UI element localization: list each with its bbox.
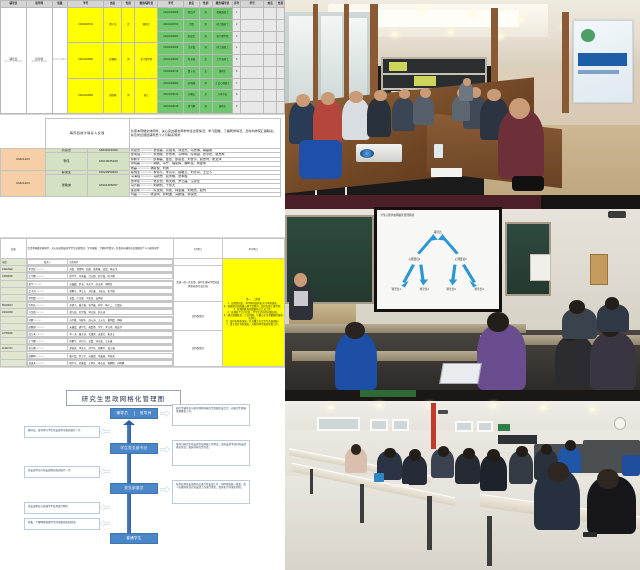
student-head xyxy=(569,300,585,314)
phone-cell xyxy=(1,323,27,330)
grey-sid xyxy=(241,78,264,90)
phone xyxy=(583,532,597,537)
col-sid-b: 学号 xyxy=(158,1,184,8)
green-name: 黄飞鹏 xyxy=(184,102,199,114)
member-sid: 03221403948 xyxy=(141,163,153,165)
red-pillar xyxy=(431,403,437,450)
phone-cell xyxy=(1,352,27,359)
member-list: 吴逸昊、高旭涛、郭文杰、马志博、胡磊刚 xyxy=(153,149,212,153)
member-split: 刘鹏 03221403 苏宇峰、冯建东、赵元涛、王元东、董明磊、郭楠 xyxy=(26,316,174,323)
member-name: 吴南强 xyxy=(131,153,140,157)
grey-name xyxy=(264,31,277,43)
feedback-col-header: 反馈 xyxy=(1,239,27,259)
contact-name: 李明磊 xyxy=(29,297,36,300)
sub-contact: 联系人 xyxy=(27,260,68,265)
col-name-a: 姓名 xyxy=(104,1,122,8)
green-origin: 大专业硕士 xyxy=(212,55,233,67)
grey-name xyxy=(264,19,277,31)
idx-cell: 6 xyxy=(233,66,241,78)
class-code-cell: 03221403 xyxy=(1,149,46,171)
contact-sid: 03221404 xyxy=(36,334,44,336)
green-origin: 大本专业 xyxy=(212,90,233,102)
idx-cell: 8 xyxy=(233,90,241,102)
slide-arrows xyxy=(377,210,499,309)
member-list: 邵华平、冯沐鑫、吕志那、赵宇嘉、陈子鹏 xyxy=(68,274,173,279)
green-name: 王冰磊 xyxy=(184,43,199,55)
grey-sid xyxy=(241,66,264,78)
member-split: 高万天 03221404 李一涛、董志涛、吴镇然、宋嘉言、朱金立 xyxy=(26,330,174,337)
green-sex: 男 xyxy=(199,78,212,90)
downlight-icon xyxy=(392,33,397,36)
member-list: 李伟凡、李高宇、赵敏兰、刘芳舟、王立人 xyxy=(153,170,212,174)
student-head xyxy=(351,444,362,455)
col-origin-b: 籍贯/辅导员 xyxy=(212,1,233,8)
downlight-icon xyxy=(470,12,475,15)
member-sid: 03221403712 xyxy=(141,159,153,161)
phone-cell: 11420713 xyxy=(1,345,27,352)
grey-sex xyxy=(277,90,285,102)
contact-name: 黄宇 xyxy=(29,283,34,286)
table-header-row: 辅导员 班导师 班级 学号 姓名 性别 籍贯/辅导员 学号 姓名 性别 籍贯/辅… xyxy=(1,1,285,8)
green-origin: 机械类硕士 xyxy=(212,8,233,20)
green-sex: 男 xyxy=(199,43,212,55)
grey-sid xyxy=(241,55,264,67)
member-list: 宋鑫磊、通宇杰、祝磊然、余亨、李立南、周云华 xyxy=(68,324,173,329)
attendee xyxy=(342,98,370,141)
projector-lens-icon xyxy=(360,149,374,158)
contact-sid: 03221403 xyxy=(36,269,44,271)
idx-cell: 1 xyxy=(233,8,241,20)
contact-name: 刘鹏 xyxy=(29,319,34,322)
student-head xyxy=(384,448,395,459)
green-sex: 男 xyxy=(199,19,212,31)
contact-name: 高嘉天 xyxy=(29,362,36,365)
contact-name: 何明志 xyxy=(29,304,36,307)
feedback-note: 负责本寝楼全体同学，关心身边朋友同学学生出现情况、学习困难、了解同学情况，及时向… xyxy=(129,119,280,149)
green-sid: 03221403664 xyxy=(158,31,184,43)
grey-name xyxy=(264,43,277,55)
student-head xyxy=(597,469,618,489)
member-split: 张万鹏 03221404 郑亚纯、李金方、刘宇哲、蒋鹏宇、温立强 xyxy=(26,345,174,352)
callout-left-3: 党支部委员与普通学生每月进行两次 xyxy=(24,502,100,514)
feedback-header-row: 每周四统计联系人反馈 负责本寝楼全体同学，关心身边朋友同学学生出现情况、学习困难… xyxy=(1,119,281,149)
col-sid-c: 学号 xyxy=(241,1,264,8)
green-sex: 男 xyxy=(199,102,212,114)
cabinet-shelf xyxy=(383,73,486,75)
roster-spreadsheet-panel: 辅导员 班导师 班级 学号 姓名 性别 籍贯/辅导员 学号 姓名 性别 籍贯/辅… xyxy=(0,0,285,115)
member-name: 冯齐超 xyxy=(131,184,140,188)
member-list: 孙鹏宇、齐世方、吴磊、济东波、王水鑫 xyxy=(68,339,173,344)
attendee xyxy=(392,98,415,131)
grey-name xyxy=(264,66,277,78)
department-sign xyxy=(573,20,633,104)
photo-inner xyxy=(285,390,640,570)
member-split: 赵鹏然 03221403 宋鑫磊、通宇杰、祝磊然、余亨、李立南、周云华 xyxy=(26,323,174,330)
member-list: 吴鑫麟、罗涛、余志宇、赵志超、胡明哲 xyxy=(68,281,173,286)
yellow-note-cell: 第一、二阶段 1、疫情情况后，本学期开始的形式与举措落实。 2、按班级分组收集心… xyxy=(222,259,285,367)
exit-sign-icon xyxy=(498,424,510,431)
roster-table: 辅导员 班导师 班级 学号 姓名 性别 籍贯/辅导员 学号 姓名 性别 籍贯/辅… xyxy=(0,0,285,114)
date1-cell: 无特殊情况 xyxy=(174,330,222,366)
callout-right-2: 每周与研究生党支部书记开展工作例会，由党支部书记向党支部委员传达，逐层向研究生传… xyxy=(172,440,250,466)
member-list: 刘磊、郑泽鸣、赵晨、黄思豪、高磊、陈启飞 xyxy=(68,267,173,272)
callout-right-1: 研究生辅导员与班导师共同研究生思政形成合力，对研究生开展思想教育工作。 xyxy=(172,404,250,426)
desk-leg xyxy=(427,496,432,550)
col-class: 班级 xyxy=(52,1,67,8)
member-list: 李一涛、董志涛、吴镇然、宋嘉言、朱金立 xyxy=(68,331,173,336)
grey-sex xyxy=(277,55,285,67)
contact-phone: 18901386057 xyxy=(87,175,129,197)
contact-name: 赵鹏坤 xyxy=(29,355,36,358)
member-list: 吴泰然、杨大峰、罗艺磊、汪意全 xyxy=(153,179,199,183)
member-list: 胡鹏、马宁、程思辉、魏鸣佳、黄金成 xyxy=(153,162,206,166)
yellow-sex: 女 xyxy=(122,8,135,43)
arrow-up-icon xyxy=(123,420,135,425)
member-list: 郑亚纯、李金方、刘宇哲、蒋鹏宇、温立强 xyxy=(68,346,173,351)
grey-sid xyxy=(241,102,264,114)
contact-sid: 03221404 xyxy=(36,356,44,358)
green-origin: 国防生 xyxy=(212,66,233,78)
member-row: 司磊 03221404758 张亚明、邱明迪、冯鹏程、余锐然 xyxy=(129,192,280,196)
member-list: 胡九松、刘宇霖、郭志辰、赵志涛 xyxy=(68,310,173,315)
member-split: 李世廷 03221403 刘磊、郑泽鸣、赵晨、黄思豪、高磊、陈启飞 xyxy=(26,266,174,273)
header-note: 负责本寝楼全体同学，关心身边朋友同学学生出现情况、学习困难、了解同学情况，并及时… xyxy=(26,239,174,259)
student xyxy=(477,324,527,390)
member-sid: 03221404794 xyxy=(141,181,153,183)
contact-name: 张万鹏 xyxy=(29,347,36,350)
contact-name: 李世廷 xyxy=(29,268,36,271)
window xyxy=(477,421,493,433)
grey-sex xyxy=(277,102,285,114)
member-name: 邱鹏宇 xyxy=(131,157,140,161)
counselor-cell: 辅导员 (办公室 行政楼四层) xyxy=(1,8,27,114)
col-sex-b: 性别 xyxy=(199,1,212,8)
callout-left-1: 辅导员、班导师与学生党支部书记每周进行一次 xyxy=(24,426,100,438)
presenter-head xyxy=(463,78,472,86)
water-bottle xyxy=(434,144,443,158)
green-sex: 女 xyxy=(199,90,212,102)
member-split: 李明磊 03221403 高磊、卢正锋、冯金哲、安夏松 xyxy=(26,294,174,301)
green-sid: 03221403669 xyxy=(158,43,184,55)
phone-cell xyxy=(1,316,27,323)
left-column: 辅导员 班导师 班级 学号 姓名 性别 籍贯/辅导员 学号 姓名 性别 籍贯/辅… xyxy=(0,0,285,570)
member-sid: 03221404813 xyxy=(141,190,153,192)
member-name: 周思奇 xyxy=(131,149,140,153)
sign-title-bar xyxy=(578,53,627,66)
window-pane xyxy=(349,18,367,102)
projector xyxy=(356,144,402,162)
yellow-origin: 非门理学院 xyxy=(135,43,158,78)
contact-name: 赵鹏然 xyxy=(29,326,36,329)
student-head xyxy=(605,297,619,310)
grey-sid xyxy=(241,90,264,102)
laptop xyxy=(439,363,482,384)
sign-subtitle-bar xyxy=(578,70,619,74)
grey-sex xyxy=(277,19,285,31)
cork-board xyxy=(590,254,608,285)
lecture-hall-photo xyxy=(285,390,640,570)
idx-cell: 9 xyxy=(233,102,241,114)
flow-node-party-committee: 党支部委员 xyxy=(110,483,158,494)
phone-cell xyxy=(1,294,27,301)
green-sex: 男 xyxy=(199,31,212,43)
connector-arrow-icon xyxy=(100,504,110,511)
member-sid: 03221403903 xyxy=(138,168,150,170)
meeting-room-photo xyxy=(285,0,640,195)
member-list: 董小磊、罗江宇、吴建磊、常鑫锋、李亚天 xyxy=(68,353,173,358)
yellow-name: 周晓楠 xyxy=(104,78,122,113)
connector-arrow-icon xyxy=(160,486,170,493)
member-split: 黄宇 03221403 吴鑫麟、罗涛、余志宇、赵志超、胡明哲 xyxy=(26,280,174,287)
flowchart-panel: 研究生思政网格化管理图 辅导员 班导师 学生党支部书记 党支部委员 普通学生 研… xyxy=(0,368,285,570)
classadvisor-sub: (机械学院 教研室) xyxy=(27,61,52,64)
student-head xyxy=(438,446,449,457)
green-sid: 03221403614 xyxy=(158,90,184,102)
member-list: 胡解东、李江志、刘志鑫、王秋允、张宇挺 xyxy=(68,288,173,293)
yellow-sid: 03221403724 xyxy=(68,8,104,43)
desk-leg xyxy=(310,469,314,494)
member-split: 何明志 03221403 全德大、董方锋、张华鑫、孙华、杨小二、王磊辰 xyxy=(26,302,174,309)
student-head xyxy=(487,312,508,332)
flow-node-party-secretary: 学生党支部书记 xyxy=(110,443,158,454)
feedback-title: 每周四统计联系人反馈 xyxy=(45,119,129,149)
table-row: 辅导员 (办公室 行政楼四层) 班导师 (机械学院 教研室) 滚动区 (隐藏列)… xyxy=(1,8,285,20)
green-origin: 硕士类硕士 xyxy=(212,43,233,55)
member-split: 赵鹏坤 03221404 董小磊、罗江宇、吴建磊、常鑫锋、李亚天 xyxy=(26,352,174,359)
phone-cell: 13800006 xyxy=(1,273,27,280)
green-name: 曹宁佳 xyxy=(184,66,199,78)
date-col-1: 3月9日 xyxy=(174,239,222,259)
lecture-slide-photo: 学生心理状态网格化管理机制 辅导员 心理委员1 心理委员2 寝室长1 寝室长2 … xyxy=(285,195,640,390)
member-list: 马航志、赵沐翔、张本超 xyxy=(153,175,187,179)
col-classadvisor: 班导师 xyxy=(26,1,52,8)
member-list: 高磊、卢正锋、冯金哲、安夏松 xyxy=(68,296,173,301)
connector-arrow-icon xyxy=(100,428,110,435)
ceiling-projector-icon xyxy=(608,211,626,219)
phone-cell: 16618399 xyxy=(1,309,27,316)
green-sex: 女 xyxy=(199,66,212,78)
top-dark-band xyxy=(285,390,640,401)
downlight-icon xyxy=(519,18,524,21)
member-list: 张亚明、邱明迪、冯鹏程、余锐然 xyxy=(150,192,196,196)
attendee-head xyxy=(509,98,530,119)
idx-cell: 2 xyxy=(233,19,241,31)
member-list: 满思悦、刘扬 xyxy=(150,166,169,170)
student-head xyxy=(463,448,475,460)
attendee-head xyxy=(420,88,431,98)
green-sex: 女 xyxy=(199,55,212,67)
contact-name: 高万天 xyxy=(29,333,36,336)
attendee xyxy=(413,96,434,125)
grey-name xyxy=(264,8,277,20)
weekly-feedback-panel: 每周四统计联系人反馈 负责本寝楼全体同学，关心身边朋友同学学生出现情况、学习困难… xyxy=(0,115,285,238)
grey-sid xyxy=(241,8,264,20)
contact-sid: 03221403 xyxy=(36,291,44,293)
student xyxy=(335,332,378,391)
water-bottle xyxy=(374,473,385,482)
date1-cell: 各班一周一次反馈，按时汇报同学情况及思想动态/每日汇报 xyxy=(174,266,222,302)
contact-name: 孟子良 xyxy=(29,290,36,293)
downlight-icon xyxy=(541,406,546,409)
green-sex: 男 xyxy=(199,8,212,20)
yellow-origin: 硕士 xyxy=(135,78,158,113)
cabinet-item xyxy=(389,62,407,70)
grey-sex xyxy=(277,43,285,55)
contact-name: 李伟 xyxy=(45,153,87,171)
col-index: 序号 xyxy=(233,1,241,8)
contact-sid: 03221403 xyxy=(34,320,42,322)
green-name: 赵明峰 xyxy=(184,78,199,90)
flow-node-counselor: 辅导员 xyxy=(111,411,134,416)
phone-cell: 88129013 xyxy=(1,302,27,309)
yellow-origin: 国防生 xyxy=(135,8,158,43)
member-sid: 03221404752 xyxy=(141,176,153,178)
member-sid: 03221404742 xyxy=(141,185,153,187)
green-sid: 03221403669 xyxy=(158,8,184,20)
attendee-head xyxy=(296,94,310,108)
classadvisor-cell: 班导师 (机械学院 教研室) xyxy=(26,8,52,114)
student xyxy=(555,335,594,386)
spacer-cell xyxy=(1,119,46,149)
connector-arrow-icon xyxy=(160,446,170,453)
contact-sid: 03221403 xyxy=(34,284,42,286)
callout-right-3: 每月召开党支部委员会进行党支部工作，同时提出统一意见，由一名教师党员对党支部工作… xyxy=(172,480,250,504)
attendee-head xyxy=(321,92,335,106)
yellow-sex: 男 xyxy=(122,78,135,113)
grey-sid xyxy=(241,19,264,31)
member-list: 刘鹏帆、于永天 xyxy=(153,184,175,188)
yellow-sid: 03221403804 xyxy=(68,78,104,113)
window xyxy=(455,421,473,433)
contact-name: 张敏弟 xyxy=(45,175,87,197)
sub-split: 联系人 负责同学 xyxy=(26,259,174,266)
attendee xyxy=(313,99,341,146)
sub-members: 负责同学 xyxy=(68,260,173,265)
green-origin: 王会心理硕士 xyxy=(212,78,233,90)
right-column: 学生心理状态网格化管理机制 辅导员 心理委员1 心理委员2 寝室长1 寝室长2 … xyxy=(285,0,640,570)
col-sex-c: 性别 xyxy=(277,1,285,8)
school-logo-icon xyxy=(581,29,595,42)
green-origin: 国防生 xyxy=(212,102,233,114)
desk-leg xyxy=(360,484,364,524)
contact-sid: 03221403 xyxy=(36,276,44,278)
yellow-name: 赵健刚 xyxy=(104,43,122,78)
grey-name xyxy=(264,90,277,102)
member-name: 蔡悦生 xyxy=(131,170,140,174)
photo-inner: 学生心理状态网格化管理机制 辅导员 心理委员1 心理委员2 寝室长1 寝室长2 … xyxy=(285,195,640,390)
col-counselor: 辅导员 xyxy=(1,1,27,8)
notice-sheet xyxy=(530,254,551,281)
projection-screen: 学生心理状态网格化管理机制 辅导员 心理委员1 心理委员2 寝室长1 寝室长2 … xyxy=(374,207,502,312)
contact-sid: 03221403 xyxy=(36,305,44,307)
backpack xyxy=(299,140,342,179)
downlight-icon xyxy=(420,8,425,11)
green-name: 赵晨杰 xyxy=(184,31,199,43)
phone-cell xyxy=(1,287,27,294)
member-list: 余浩峰、乔志本、高坤明、陈靖涵、张宇松、夏志成 xyxy=(153,153,224,157)
phone-cell xyxy=(1,338,27,345)
phone-cell: 10765006 xyxy=(1,330,27,337)
idx-cell: 4 xyxy=(233,43,241,55)
green-name: 尹磊 xyxy=(184,19,199,31)
callout-left-4: 收集、了解网格管理学生的思想动态和情况 xyxy=(24,518,100,530)
grey-sex xyxy=(277,31,285,43)
member-split: 王宇鹏 03221403 邵华平、冯沐鑫、吕志那、赵宇嘉、陈子鹏 xyxy=(26,273,174,280)
paper-document xyxy=(392,484,410,488)
attendee xyxy=(498,109,544,179)
contact-sid: 03221404 xyxy=(36,341,44,343)
counselor-sub: (办公室 行政楼四层) xyxy=(1,61,26,64)
office-chair xyxy=(512,176,544,192)
flow-node-top: 辅导员 班导师 xyxy=(110,408,158,419)
date-header-row: 反馈 负责本寝楼全体同学，关心身边朋友同学学生出现情况、学习困难、了解同学情况，… xyxy=(1,239,285,259)
member-sid: 03221403687 xyxy=(141,150,153,152)
member-name: 杨磊 xyxy=(131,166,137,170)
grey-name xyxy=(264,55,277,67)
backpack xyxy=(622,455,640,477)
member-name: 司磊 xyxy=(131,192,137,196)
member-list: 苏宇峰、冯建东、赵元涛、王元东、董明磊、郭楠 xyxy=(68,317,173,322)
connector-arrow-icon xyxy=(100,520,110,527)
desk-leg xyxy=(487,516,492,566)
col-name-b: 姓名 xyxy=(184,1,199,8)
flow-node-advisor: 班导师 xyxy=(134,411,158,416)
col-sid-a: 学号 xyxy=(68,1,104,8)
contact-name: 冯浩然 xyxy=(29,311,36,314)
grey-sex xyxy=(277,66,285,78)
subheader-row: 电话 联系人 负责同学 第一、二阶段 1、疫情情况后，本学期开始的形式与举措落实… xyxy=(1,259,285,266)
member-list: 陈文刚、何聚、韩金昊、刘培然、赵内 xyxy=(153,188,206,192)
grey-name xyxy=(264,102,277,114)
connector-arrow-icon xyxy=(160,410,170,417)
contact-sid: 03221403 xyxy=(36,327,44,329)
idx-cell: 7 xyxy=(233,78,241,90)
yellow-sex: 男 xyxy=(122,43,135,78)
member-sid: 03221404758 xyxy=(138,194,150,196)
contact-name: 王宇鹏 xyxy=(29,340,36,343)
yellow-sid: 03221403660 xyxy=(68,43,104,78)
green-name: 符文峰 xyxy=(184,55,199,67)
col-name-c: 姓名 xyxy=(264,1,277,8)
phone-cell xyxy=(1,280,27,287)
paper-document xyxy=(431,168,463,178)
member-sid: 03221404843 xyxy=(141,172,153,174)
idx-cell: 3 xyxy=(233,31,241,43)
grey-sid xyxy=(241,43,264,55)
phone-cell: 15942992 xyxy=(1,266,27,273)
contact-sid: 03221404 xyxy=(36,363,44,365)
date-grid-panel: 反馈 负责本寝楼全体同学，关心身边朋友同学学生出现情况、学习困难、了解同学情况，… xyxy=(0,238,285,368)
green-sid: 03221403810 xyxy=(158,55,184,67)
class-cell: 滚动区 (隐藏列) xyxy=(52,8,67,114)
student-head xyxy=(548,462,569,482)
green-name: 冯鹏山 xyxy=(184,90,199,102)
top-green-band xyxy=(360,390,417,397)
flowchart-title: 研究生思政网格化管理图 xyxy=(66,390,181,406)
weekly-feedback-table: 每周四统计联系人反馈 负责本寝楼全体同学，关心身边朋友同学学生出现情况、学习困难… xyxy=(0,118,281,197)
member-split: 高嘉天 03221404 韩宇东、孙嘉磊、王明东、杨志高、崔鹏程、刘明鹏 xyxy=(26,359,174,366)
ceiling-projector-icon xyxy=(438,410,449,415)
window xyxy=(317,417,360,431)
photo-inner xyxy=(285,0,640,195)
phone-cell xyxy=(1,359,27,366)
green-name: 崔玮华 xyxy=(184,8,199,20)
flowchart-spine xyxy=(127,424,131,540)
member-split: 王宇鹏 03221404 孙鹏宇、齐世方、吴磊、济东波、王水鑫 xyxy=(26,338,174,345)
downlight-icon xyxy=(328,406,333,409)
student-head xyxy=(345,322,365,340)
window xyxy=(392,419,410,432)
